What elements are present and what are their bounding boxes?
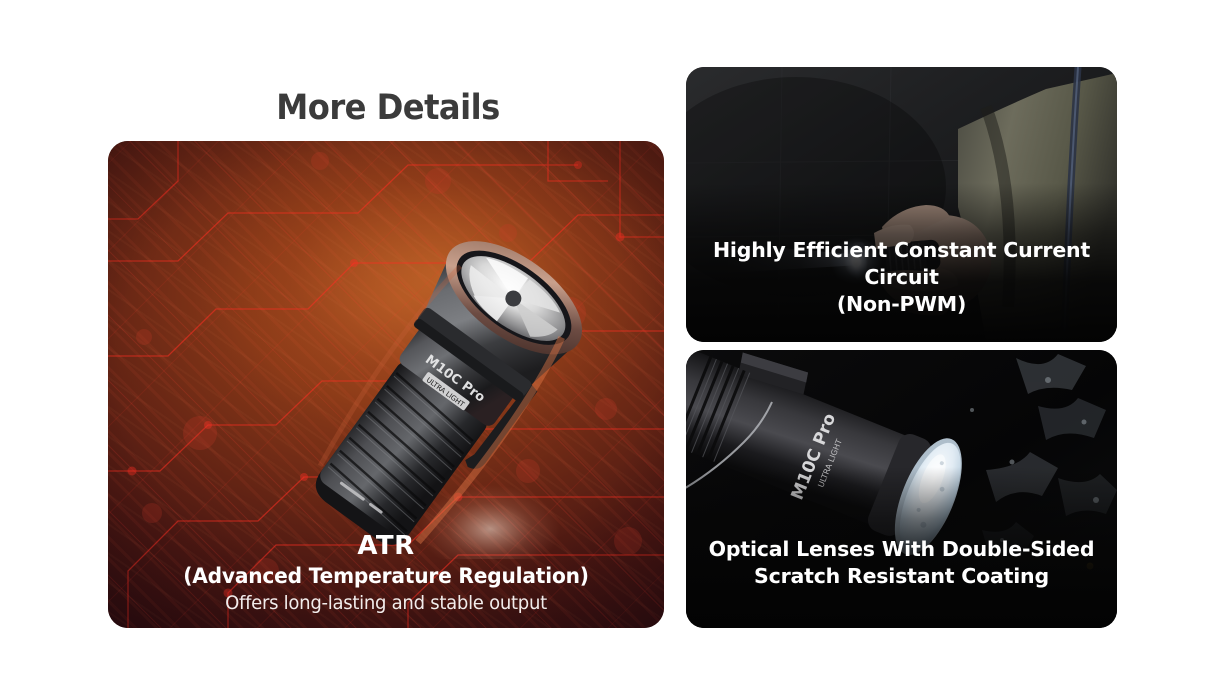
atr-description: Offers long-lasting and stable output bbox=[122, 592, 650, 614]
lens-card-caption: Optical Lenses With Double-Sided Scratch… bbox=[686, 536, 1117, 610]
optical-lens-card[interactable]: M10C Pro ULTRA LIGHT Optical Lenses With… bbox=[686, 350, 1117, 628]
atr-caption-block: ATR (Advanced Temperature Regulation) Of… bbox=[108, 531, 664, 614]
constant-current-circuit-card[interactable]: Highly Efficient Constant Current Circui… bbox=[686, 67, 1117, 342]
lens-caption-line-2: Scratch Resistant Coating bbox=[704, 563, 1099, 590]
atr-title: ATR bbox=[108, 531, 664, 561]
atr-subtitle: (Advanced Temperature Regulation) bbox=[119, 564, 653, 588]
page-title: More Details bbox=[130, 88, 645, 128]
atr-feature-card[interactable]: M10C Pro ULTRA LIGHT ATR (Advanced Tempe… bbox=[108, 141, 664, 628]
circuit-caption-line-2: (Non-PWM) bbox=[704, 291, 1099, 318]
circuit-caption-line-1: Highly Efficient Constant Current Circui… bbox=[704, 237, 1099, 291]
circuit-card-caption: Highly Efficient Constant Current Circui… bbox=[686, 237, 1117, 338]
lens-caption-line-1: Optical Lenses With Double-Sided bbox=[704, 536, 1099, 563]
